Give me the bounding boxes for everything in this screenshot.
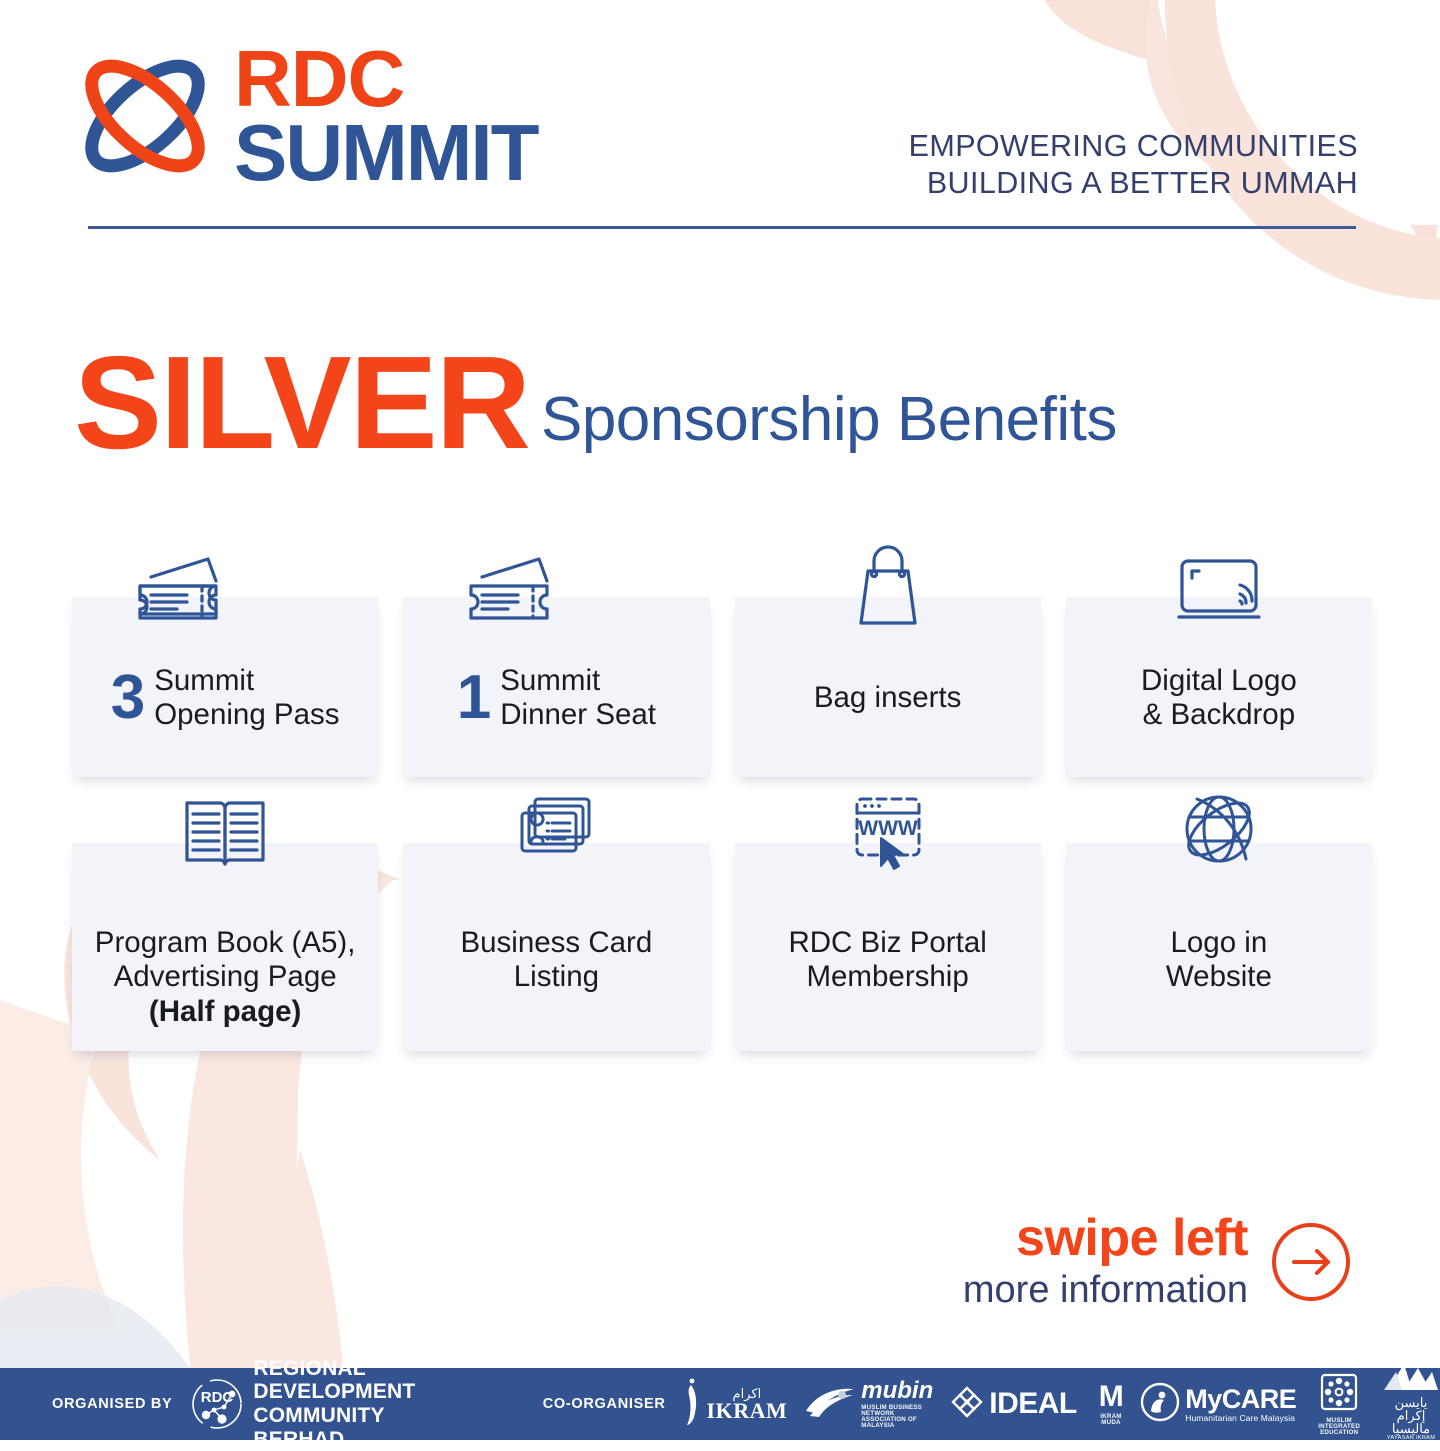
benefit-count: 3 xyxy=(111,670,145,726)
mubin-logo: mubin MUSLIM BUSINESS NETWORK ASSOCIATIO… xyxy=(804,1379,933,1430)
ikram-muda-sub: IKRAM MUDA xyxy=(1099,1414,1124,1426)
ikram-muda-logo: M IKRAM MUDA xyxy=(1094,1382,1124,1426)
tagline-line-2: BUILDING A BETTER UMMAH xyxy=(909,165,1358,202)
yayasan-text: يايسن إكرام ماليسيا YAYASAN IKRAM MALAYS… xyxy=(1382,1360,1440,1447)
organiser-name: REGIONAL DEVELOPMENT COMMUNITY BERHAD xyxy=(253,1357,480,1451)
mycare-name: MyCARE xyxy=(1185,1386,1296,1413)
mycare-logo: MyCARE Humanitarian Care Malaysia xyxy=(1140,1382,1296,1427)
benefits-grid: 3 Summit Opening Pass 1 Summit Dinner Se… xyxy=(72,597,1372,1051)
ideal-logo: IDEAL xyxy=(950,1385,1077,1424)
benefit-card-business-card-listing[interactable]: Business Card Listing xyxy=(403,843,709,1051)
card-content: Bag inserts xyxy=(804,681,972,716)
ideal-text: IDEAL xyxy=(989,1389,1077,1419)
benefit-card-logo-in-website[interactable]: Logo in Website xyxy=(1066,843,1372,1051)
yayasan-arabic: يايسن إكرام ماليسيا xyxy=(1382,1396,1440,1435)
mubin-sub: MUSLIM BUSINESS NETWORK ASSOCIATION OF M… xyxy=(861,1405,933,1430)
ikram-logo: اكرام IKRAM xyxy=(680,1377,788,1432)
open-book-icon xyxy=(167,783,283,879)
benefits-row-2: Program Book (A5), Advertising Page (Hal… xyxy=(72,843,1372,1051)
yayasan-ikram-logo: يايسن إكرام ماليسيا YAYASAN IKRAM MALAYS… xyxy=(1377,1360,1440,1447)
mubin-name: mubin xyxy=(861,1379,933,1403)
card-content: 3 Summit Opening Pass xyxy=(101,664,350,733)
benefit-label: Digital Logo & Backdrop xyxy=(1141,664,1297,733)
title-subtitle: Sponsorship Benefits xyxy=(541,389,1117,461)
svg-text:WWW: WWW xyxy=(858,817,918,840)
ideal-diamond-icon xyxy=(950,1385,984,1424)
page-title: SILVER Sponsorship Benefits xyxy=(74,345,1117,461)
benefit-label: Business Card Listing xyxy=(460,926,652,995)
swipe-left-cta[interactable]: swipe left more information xyxy=(963,1212,1352,1313)
mubin-swoosh-icon xyxy=(804,1385,856,1424)
logo-rdc-text: RDC xyxy=(234,42,538,116)
swipe-sub-text: more information xyxy=(963,1268,1248,1313)
tickets-icon xyxy=(452,537,568,633)
footer-bar: ORGANISED BY RDC REGIONAL DEVELOPMENT CO… xyxy=(0,1368,1440,1440)
arrow-right-circle-icon[interactable] xyxy=(1270,1221,1352,1303)
swipe-text-block: swipe left more information xyxy=(963,1212,1248,1313)
benefit-count: 1 xyxy=(457,670,491,726)
svg-text:RDC: RDC xyxy=(201,1389,234,1406)
card-content: Program Book (A5), Advertising Page (Hal… xyxy=(85,891,366,1029)
organised-by-label: ORGANISED BY xyxy=(52,1396,172,1412)
ikram-muda-mark: M xyxy=(1099,1380,1124,1413)
mubin-text: mubin MUSLIM BUSINESS NETWORK ASSOCIATIO… xyxy=(861,1379,933,1430)
benefit-label: Summit Dinner Seat xyxy=(500,664,656,733)
ikram-mark-icon xyxy=(680,1377,702,1432)
business-cards-icon xyxy=(498,783,614,879)
benefit-card-summit-dinner-seat[interactable]: 1 Summit Dinner Seat xyxy=(403,597,709,777)
tagline: EMPOWERING COMMUNITIES BUILDING A BETTER… xyxy=(909,128,1358,202)
card-content: Digital Logo & Backdrop xyxy=(1131,664,1307,733)
benefit-label: Bag inserts xyxy=(814,681,962,716)
ikram-name: IKRAM xyxy=(707,1400,788,1422)
orbital-atom-icon xyxy=(70,51,220,181)
benefit-card-rdc-biz-portal[interactable]: WWW RDC Biz Portal Membership xyxy=(735,843,1041,1051)
rdc-summit-logo: RDC SUMMIT xyxy=(70,42,538,191)
ikram-muda-text: M IKRAM MUDA xyxy=(1099,1382,1124,1426)
logo-summit-text: SUMMIT xyxy=(234,116,538,190)
mycare-text: MyCARE Humanitarian Care Malaysia xyxy=(1185,1386,1296,1423)
screen-cast-icon xyxy=(1161,537,1277,633)
benefit-label: RDC Biz Portal Membership xyxy=(788,926,986,995)
partner-logos: اكرام IKRAM mubin MUSLIM BUSINESS NETWOR… xyxy=(680,1360,1440,1447)
benefits-row-1: 3 Summit Opening Pass 1 Summit Dinner Se… xyxy=(72,597,1372,777)
page-header: RDC SUMMIT EMPOWERING COMMUNITIES BUILDI… xyxy=(0,0,1440,240)
co-organiser-label: CO-ORGANISER xyxy=(543,1396,666,1412)
benefit-label: Program Book (A5), Advertising Page (Hal… xyxy=(95,891,356,1029)
benefit-label: Logo in Website xyxy=(1166,926,1272,995)
card-content: 1 Summit Dinner Seat xyxy=(447,664,666,733)
mie-logo: MUSLIM INTEGRATED EDUCATION xyxy=(1313,1372,1360,1437)
header-divider xyxy=(88,226,1356,229)
yayasan-sub: YAYASAN IKRAM MALAYSIA xyxy=(1382,1436,1440,1447)
benefit-label-bold: (Half page) xyxy=(149,995,301,1028)
www-browser-click-icon: WWW xyxy=(830,783,946,879)
globe-icon xyxy=(1161,783,1277,879)
shopping-bag-icon xyxy=(830,537,946,633)
mie-geometric-icon xyxy=(1319,1399,1359,1416)
mycare-circle-icon xyxy=(1140,1382,1180,1427)
swipe-main-text: swipe left xyxy=(963,1212,1248,1264)
benefit-card-summit-opening-pass[interactable]: 3 Summit Opening Pass xyxy=(72,597,378,777)
benefit-label: Summit Opening Pass xyxy=(154,664,339,733)
rdc-network-badge-icon: RDC xyxy=(190,1377,244,1431)
mycare-sub: Humanitarian Care Malaysia xyxy=(1185,1414,1296,1423)
tickets-icon xyxy=(121,537,237,633)
tagline-line-1: EMPOWERING COMMUNITIES xyxy=(909,128,1358,165)
benefit-card-program-book[interactable]: Program Book (A5), Advertising Page (Hal… xyxy=(72,843,378,1051)
ikram-text: اكرام IKRAM xyxy=(707,1387,788,1422)
mie-sub: MUSLIM INTEGRATED EDUCATION xyxy=(1318,1418,1360,1437)
benefit-label-main: Program Book (A5), Advertising Page xyxy=(95,926,356,994)
card-content: RDC Biz Portal Membership xyxy=(778,926,996,995)
logo-wordmark: RDC SUMMIT xyxy=(234,42,538,191)
card-content: Logo in Website xyxy=(1156,926,1282,995)
tier-name: SILVER xyxy=(74,345,529,461)
card-content: Business Card Listing xyxy=(450,926,662,995)
ideal-name: IDEAL xyxy=(989,1387,1077,1420)
yayasan-mountain-icon xyxy=(1382,1379,1440,1396)
benefit-card-digital-logo-backdrop[interactable]: Digital Logo & Backdrop xyxy=(1066,597,1372,777)
benefit-card-bag-inserts[interactable]: Bag inserts xyxy=(735,597,1041,777)
mie-text: MUSLIM INTEGRATED EDUCATION xyxy=(1318,1372,1360,1437)
